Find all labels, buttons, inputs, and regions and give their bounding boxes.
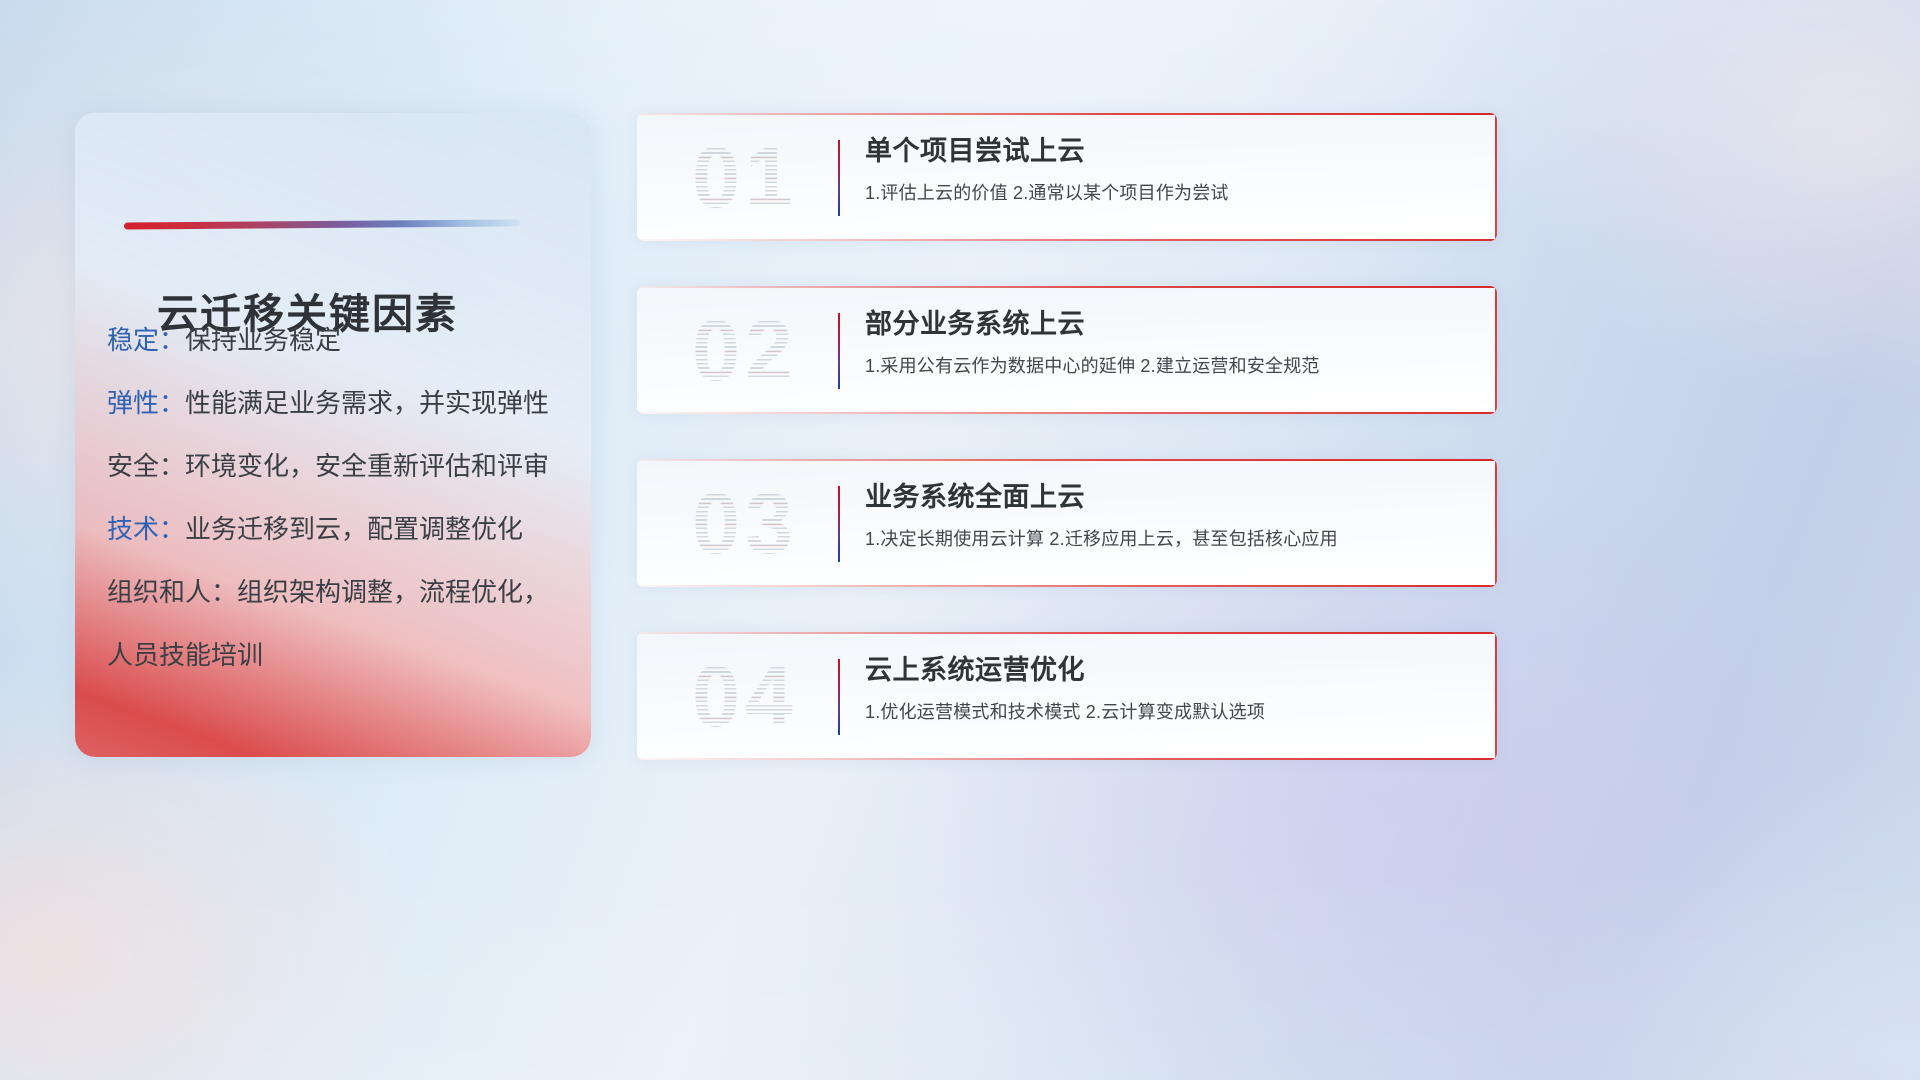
card-top-accent-line	[637, 459, 1497, 461]
card-description: 1.采用公有云作为数据中心的延伸 2.建立运营和安全规范	[865, 355, 1471, 378]
stage-card[interactable]: 01 01 单个项目尝试上云 1.评估上云的价值 2.通常以某个项目作为尝试	[637, 113, 1497, 241]
card-right-accent-line	[1495, 632, 1497, 760]
card-content: 单个项目尝试上云 1.评估上云的价值 2.通常以某个项目作为尝试	[865, 135, 1471, 205]
card-right-accent-line	[1495, 113, 1497, 241]
stage-card[interactable]: 04 04 云上系统运营优化 1.优化运营模式和技术模式 2.云计算变成默认选项	[637, 632, 1497, 760]
key-factors-list: 稳定：保持业务稳定 弹性：性能满足业务需求，并实现弹性 安全：环境变化，安全重新…	[107, 309, 567, 687]
card-divider-line	[838, 140, 840, 216]
list-item: 弹性：性能满足业务需求，并实现弹性	[107, 372, 567, 435]
stage-card[interactable]: 03 03 业务系统全面上云 1.决定长期使用云计算 2.迁移应用上云，甚至包括…	[637, 459, 1497, 587]
card-divider-line	[838, 486, 840, 562]
card-title: 业务系统全面上云	[865, 481, 1471, 515]
card-divider-line	[838, 313, 840, 389]
stage-number-watermark-tint: 04	[655, 646, 835, 748]
card-title: 云上系统运营优化	[865, 654, 1471, 688]
list-item-text: 性能满足业务需求，并实现弹性	[185, 388, 549, 418]
list-item-text: 组织架构调整，流程优化，	[237, 577, 549, 607]
card-top-accent-line	[637, 286, 1497, 288]
list-item: 安全：环境变化，安全重新评估和评审	[107, 435, 567, 498]
key-factors-panel: 云迁移关键因素 稳定：保持业务稳定 弹性：性能满足业务需求，并实现弹性 安全：环…	[75, 113, 591, 757]
card-divider-line	[838, 659, 840, 735]
card-bottom-accent-line	[637, 758, 1497, 760]
card-title: 部分业务系统上云	[865, 308, 1471, 342]
stage-number-watermark-tint: 01	[655, 127, 835, 229]
list-item-text: 环境变化，安全重新评估和评审	[185, 451, 549, 481]
card-top-accent-line	[637, 113, 1497, 115]
title-underline-accent	[124, 219, 520, 229]
card-content: 业务系统全面上云 1.决定长期使用云计算 2.迁移应用上云，甚至包括核心应用	[865, 481, 1471, 551]
card-title: 单个项目尝试上云	[865, 135, 1471, 169]
list-item: 组织和人：组织架构调整，流程优化，	[107, 561, 567, 624]
stage-number-watermark-tint: 02	[655, 300, 835, 402]
list-item-continuation: 人员技能培训	[107, 624, 567, 687]
card-description: 1.优化运营模式和技术模式 2.云计算变成默认选项	[865, 701, 1471, 724]
card-top-accent-line	[637, 632, 1497, 634]
list-item-text: 保持业务稳定	[185, 325, 341, 355]
card-bottom-accent-line	[637, 585, 1497, 587]
list-item: 稳定：保持业务稳定	[107, 309, 567, 372]
list-item-label: 稳定：	[107, 325, 185, 355]
card-content: 云上系统运营优化 1.优化运营模式和技术模式 2.云计算变成默认选项	[865, 654, 1471, 724]
list-item: 技术：业务迁移到云，配置调整优化	[107, 498, 567, 561]
card-right-accent-line	[1495, 286, 1497, 414]
list-item-text: 人员技能培训	[107, 640, 263, 670]
stage-number-watermark-tint: 03	[655, 473, 835, 575]
list-item-label: 安全：	[107, 451, 185, 481]
migration-stage-cards: 01 01 单个项目尝试上云 1.评估上云的价值 2.通常以某个项目作为尝试 0…	[637, 113, 1497, 760]
card-right-accent-line	[1495, 459, 1497, 587]
card-content: 部分业务系统上云 1.采用公有云作为数据中心的延伸 2.建立运营和安全规范	[865, 308, 1471, 378]
card-description: 1.决定长期使用云计算 2.迁移应用上云，甚至包括核心应用	[865, 528, 1471, 551]
list-item-label: 弹性：	[107, 388, 185, 418]
list-item-label: 技术：	[107, 514, 185, 544]
list-item-text: 业务迁移到云，配置调整优化	[185, 514, 523, 544]
list-item-label: 组织和人：	[107, 577, 237, 607]
card-bottom-accent-line	[637, 239, 1497, 241]
stage-card[interactable]: 02 02 部分业务系统上云 1.采用公有云作为数据中心的延伸 2.建立运营和安…	[637, 286, 1497, 414]
card-description: 1.评估上云的价值 2.通常以某个项目作为尝试	[865, 182, 1471, 205]
card-bottom-accent-line	[637, 412, 1497, 414]
